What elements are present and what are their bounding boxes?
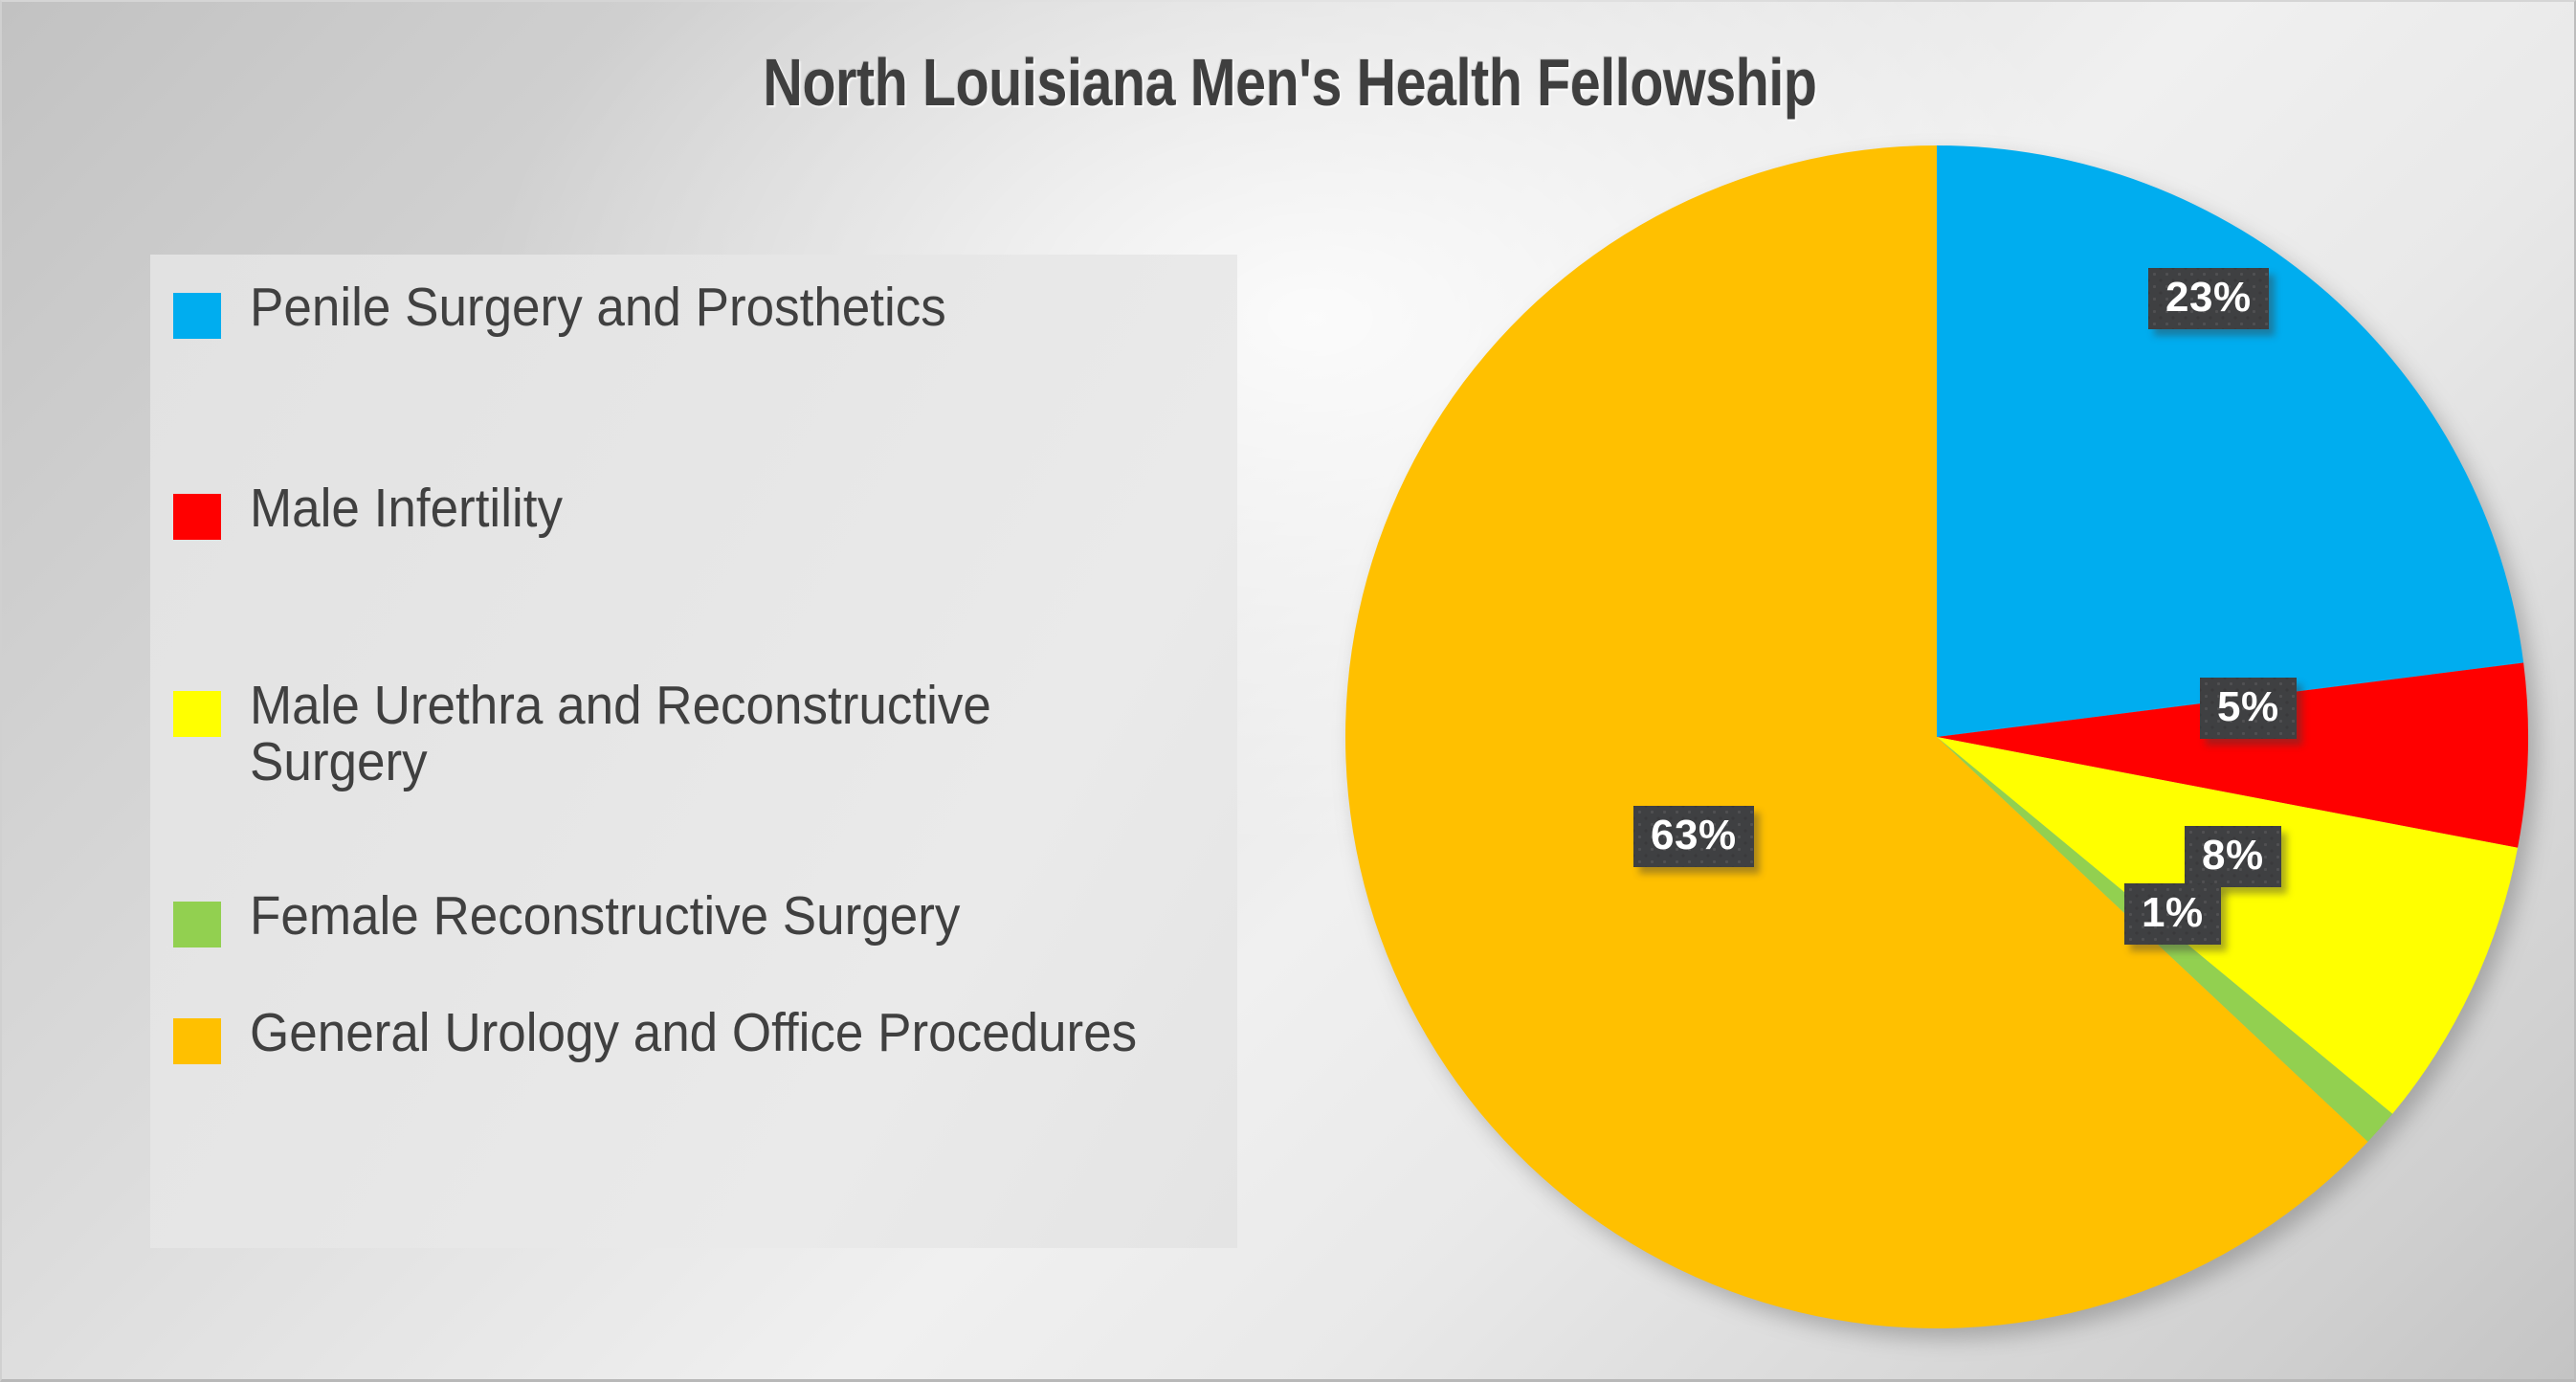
pie-chart: [1344, 144, 2530, 1330]
legend-swatch-female-reconstructive: [173, 902, 221, 947]
pie-chart-svg: [1344, 144, 2530, 1330]
legend-label-female-reconstructive: Female Reconstructive Surgery: [250, 888, 1159, 945]
legend-swatch-general-urology: [173, 1018, 221, 1064]
data-label-female-reconstructive: 1%: [2124, 883, 2221, 945]
data-label-penile-surgery: 23%: [2148, 268, 2269, 329]
data-label-male-infertility: 5%: [2200, 678, 2297, 739]
legend-swatch-male-infertility: [173, 494, 221, 540]
legend-item-penile-surgery[interactable]: Penile Surgery and Prosthetics: [173, 279, 1228, 339]
legend-label-male-urethra: Male Urethra and Reconstructive Surgery: [250, 678, 1159, 791]
data-label-general-urology: 63%: [1633, 806, 1754, 867]
legend-swatch-male-urethra: [173, 691, 221, 737]
legend-label-penile-surgery: Penile Surgery and Prosthetics: [250, 279, 1159, 336]
legend-item-female-reconstructive[interactable]: Female Reconstructive Surgery: [173, 888, 1228, 947]
legend-item-general-urology[interactable]: General Urology and Office Procedures: [173, 1005, 1228, 1064]
slide-canvas: North Louisiana Men's Health Fellowship …: [0, 0, 2576, 1382]
pie-slice-0[interactable]: [1937, 145, 2523, 737]
legend-label-male-infertility: Male Infertility: [250, 480, 1159, 537]
legend-item-male-urethra[interactable]: Male Urethra and Reconstructive Surgery: [173, 678, 1228, 791]
legend-swatch-penile-surgery: [173, 293, 221, 339]
legend-item-male-infertility[interactable]: Male Infertility: [173, 480, 1228, 540]
legend-label-general-urology: General Urology and Office Procedures: [250, 1005, 1159, 1061]
page-title: North Louisiana Men's Health Fellowship: [233, 44, 2345, 121]
data-label-male-urethra: 8%: [2185, 826, 2281, 887]
chart-legend: Penile Surgery and Prosthetics Male Infe…: [150, 255, 1237, 1248]
